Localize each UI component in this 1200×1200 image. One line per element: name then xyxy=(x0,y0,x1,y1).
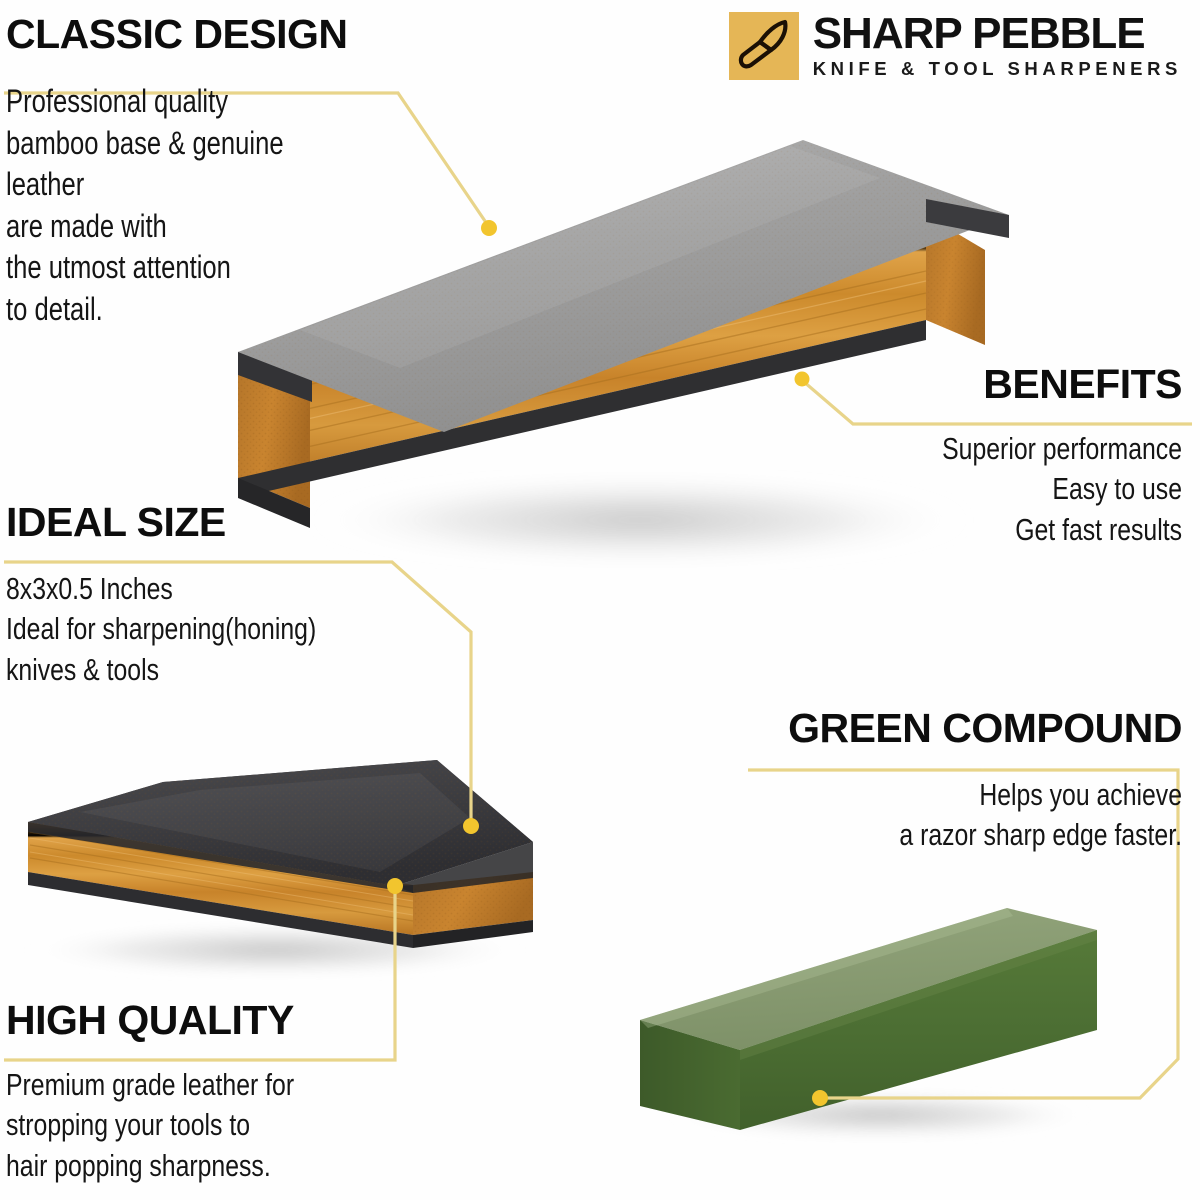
callout-line-text: to detail. xyxy=(6,289,350,331)
callout-line-text: the utmost attention xyxy=(6,247,350,289)
callout-body-green-compound: Helps you achieve a razor sharp edge fas… xyxy=(766,775,1182,856)
callout-body-classic-design: Professional quality bamboo base & genui… xyxy=(6,81,350,331)
callout-ideal-size: IDEAL SIZE 8x3x0.5 Inches Ideal for shar… xyxy=(6,502,426,690)
callout-line-text: are made with xyxy=(6,206,350,248)
callout-line-text: a razor sharp edge faster. xyxy=(766,815,1182,855)
callout-body-high-quality: Premium grade leather for stropping your… xyxy=(6,1065,342,1186)
callout-line-text: hair popping sharpness. xyxy=(6,1146,342,1186)
callout-line-text: knives & tools xyxy=(6,650,342,690)
callout-classic-design: CLASSIC DESIGN Professional quality bamb… xyxy=(6,14,436,331)
callout-line-text: 8x3x0.5 Inches xyxy=(6,569,342,609)
callout-line-text: Superior performance xyxy=(806,429,1182,469)
callout-line-text: Premium grade leather for xyxy=(6,1065,342,1105)
callout-heading-classic-design: CLASSIC DESIGN xyxy=(6,14,436,55)
callout-heading-green-compound: GREEN COMPOUND xyxy=(662,708,1182,749)
knife-icon xyxy=(729,12,799,80)
callout-heading-ideal-size: IDEAL SIZE xyxy=(6,502,426,543)
callout-high-quality: HIGH QUALITY Premium grade leather for s… xyxy=(6,1000,426,1186)
brand-name: SHARP PEBBLE xyxy=(813,12,1182,55)
callout-benefits: BENEFITS Superior performance Easy to us… xyxy=(712,364,1182,550)
callout-line-text: Ideal for sharpening(honing) xyxy=(6,609,342,649)
callout-heading-benefits: BENEFITS xyxy=(712,364,1182,405)
callout-body-benefits: Superior performance Easy to use Get fas… xyxy=(806,429,1182,550)
brand-tagline: KNIFE & TOOL SHARPENERS xyxy=(813,59,1182,79)
green-compound-bar xyxy=(640,908,1097,1139)
callout-line-text: Helps you achieve xyxy=(766,775,1182,815)
callout-line-text: bamboo base & genuine leather xyxy=(6,123,350,206)
infographic-canvas: SHARP PEBBLE KNIFE & TOOL SHARPENERS CLA… xyxy=(0,0,1200,1200)
callout-line-text: stropping your tools to xyxy=(6,1105,342,1145)
callout-line-text: Get fast results xyxy=(806,510,1182,550)
callout-line-text: Easy to use xyxy=(806,469,1182,509)
callout-body-ideal-size: 8x3x0.5 Inches Ideal for sharpening(honi… xyxy=(6,569,342,690)
callout-line-text: Professional quality xyxy=(6,81,350,123)
callout-heading-high-quality: HIGH QUALITY xyxy=(6,1000,426,1041)
brand-logo: SHARP PEBBLE KNIFE & TOOL SHARPENERS xyxy=(729,12,1182,80)
callout-green-compound: GREEN COMPOUND Helps you achieve a razor… xyxy=(662,708,1182,856)
second-strop-product xyxy=(25,760,533,976)
